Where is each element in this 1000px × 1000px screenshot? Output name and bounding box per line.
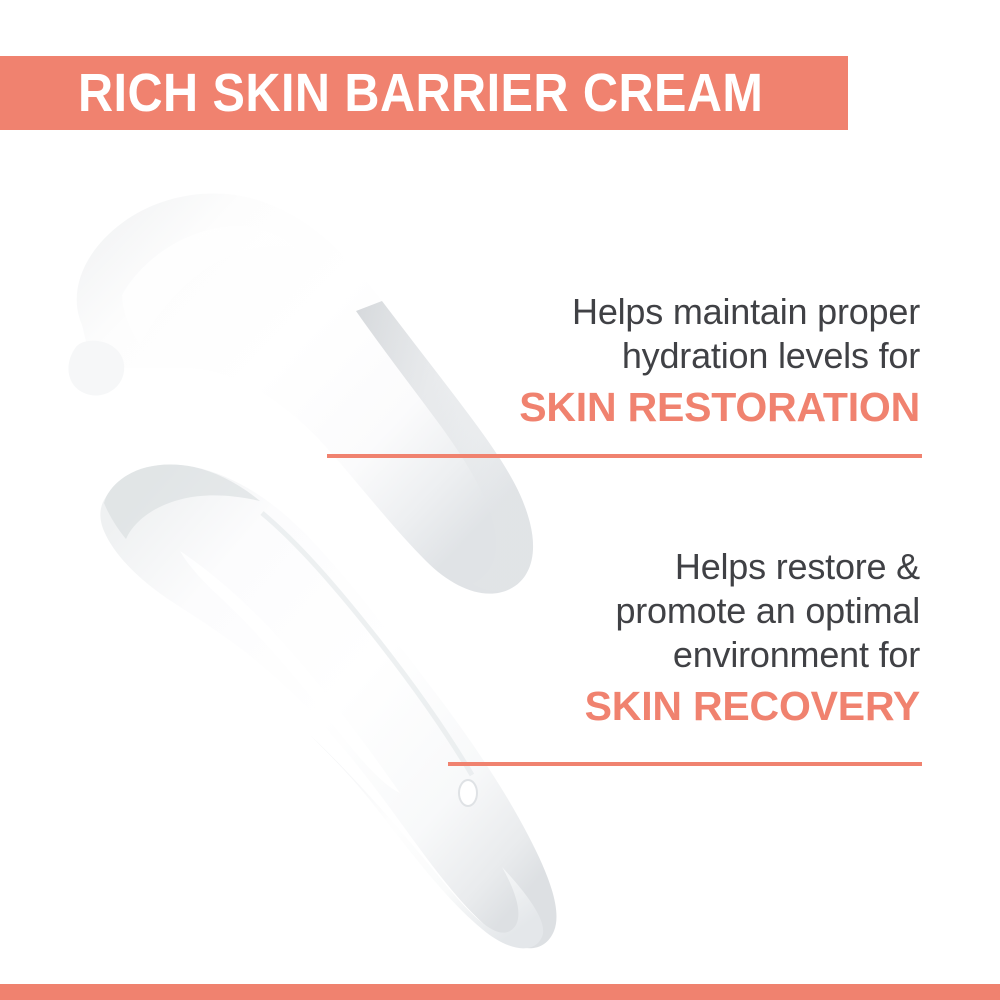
feature-block-recovery: Helps restore & promote an optimal envir… xyxy=(400,545,920,731)
feature-line: environment for xyxy=(400,633,920,677)
feature-line: Helps maintain proper xyxy=(400,290,920,334)
feature-block-restoration: Helps maintain proper hydration levels f… xyxy=(400,290,920,432)
feature-line: hydration levels for xyxy=(400,334,920,378)
footer-accent-bar xyxy=(0,984,1000,1000)
feature-line: Helps restore & xyxy=(400,545,920,589)
feature-headline-restoration: SKIN RESTORATION xyxy=(400,382,920,432)
product-feature-poster: RICH SKIN BARRIER CREAM xyxy=(0,0,1000,1000)
feature-headline-recovery: SKIN RECOVERY xyxy=(400,681,920,731)
swatch-droplet xyxy=(68,341,124,396)
swatch-bubble xyxy=(459,780,477,806)
page-title: RICH SKIN BARRIER CREAM xyxy=(78,56,762,130)
divider-rule-2 xyxy=(448,762,922,766)
divider-rule-1 xyxy=(327,454,922,458)
feature-line: promote an optimal xyxy=(400,589,920,633)
